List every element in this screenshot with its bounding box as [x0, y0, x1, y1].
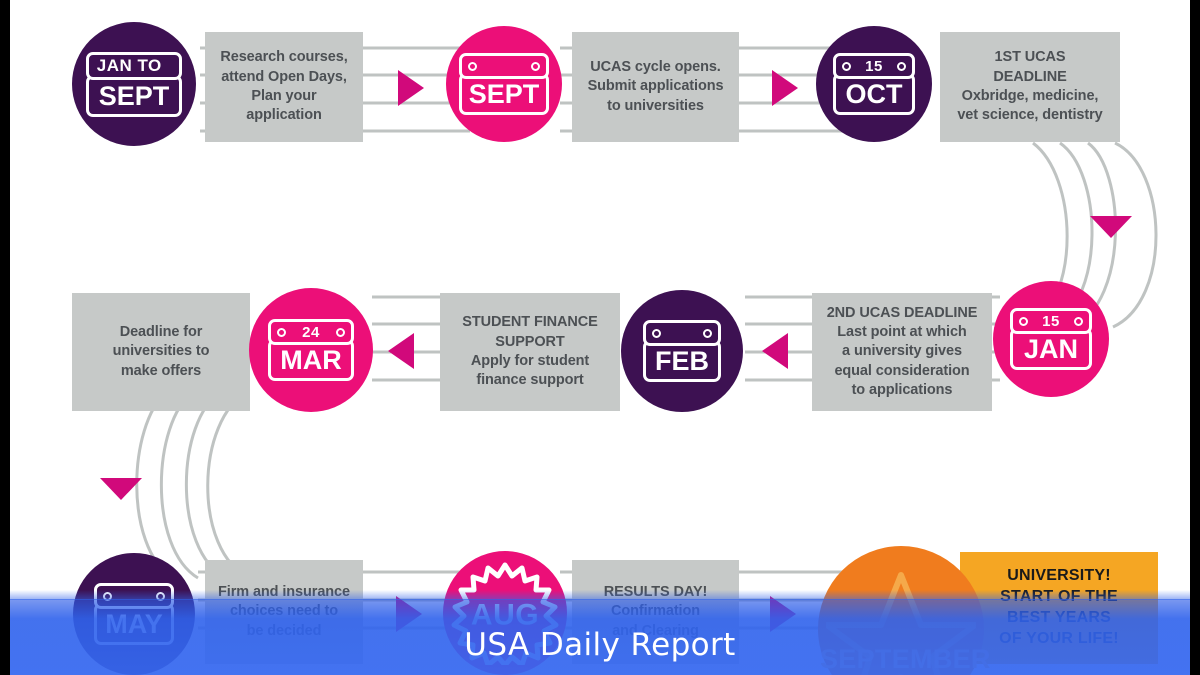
calendar-ring-icon: [897, 62, 906, 71]
calendar-ring-icon: [842, 62, 851, 71]
calendar-ring-icon: [1019, 317, 1028, 326]
box-line: finance support: [476, 371, 583, 390]
calendar-ring-icon: [531, 62, 540, 71]
box-line: DEADLINE: [993, 68, 1066, 87]
box-line: Oxbridge, medicine,: [962, 87, 1099, 106]
calendar-jan-icon: 15 JAN: [1010, 308, 1092, 370]
calendar-ring-icon: [468, 62, 477, 71]
step-box-research-courses: Research courses, attend Open Days, Plan…: [205, 32, 363, 142]
arrow-down-icon: [100, 478, 142, 500]
calendar-day-label: 15: [1042, 314, 1060, 329]
arrow-left-icon: [762, 333, 788, 369]
calendar-month-label: SEPT: [86, 75, 183, 117]
calendar-ring-icon: [277, 328, 286, 337]
step-box-1st-ucas-deadline: 1ST UCAS DEADLINE Oxbridge, medicine, ve…: [940, 32, 1120, 142]
box-line: STUDENT FINANCE: [462, 313, 597, 332]
node-jan-to-sept[interactable]: JAN TO SEPT: [72, 22, 196, 146]
calendar-oct-icon: 15 OCT: [833, 53, 915, 115]
box-line: UCAS cycle opens.: [590, 58, 720, 77]
step-box-2nd-ucas-deadline: 2ND UCAS DEADLINE Last point at which a …: [812, 293, 992, 411]
box-line: universities to: [113, 342, 210, 361]
calendar-ring-icon: [336, 328, 345, 337]
arrow-right-icon: [772, 70, 798, 106]
calendar-ring-icon: [703, 329, 712, 338]
calendar-day-label: 24: [302, 325, 320, 340]
box-line: attend Open Days,: [221, 68, 347, 87]
calendar-day-label: 15: [865, 59, 883, 74]
arrow-down-icon: [1090, 216, 1132, 238]
letterbox-left: [0, 0, 10, 675]
node-mar-24[interactable]: 24 MAR: [249, 288, 373, 412]
box-line: equal consideration: [834, 362, 969, 381]
calendar-sept-icon: SEPT: [459, 53, 550, 115]
calendar-ring-icon: [652, 329, 661, 338]
node-sept[interactable]: SEPT: [446, 26, 562, 142]
box-line: make offers: [121, 362, 201, 381]
box-line: to universities: [607, 97, 704, 116]
step-box-ucas-cycle-opens: UCAS cycle opens. Submit applications to…: [572, 32, 739, 142]
box-line: Research courses,: [220, 48, 347, 67]
calendar-ring-icon: [1074, 317, 1083, 326]
calendar-month-label: SEPT: [469, 81, 540, 108]
arrow-left-icon: [388, 333, 414, 369]
calendar-month-label: JAN: [1024, 336, 1078, 363]
box-line: Plan your application: [213, 87, 355, 126]
step-box-student-finance: STUDENT FINANCE SUPPORT Apply for studen…: [440, 293, 620, 411]
box-line: SUPPORT: [495, 333, 564, 352]
step-box-deadline-offers: Deadline for universities to make offers: [72, 293, 250, 411]
box-line: vet science, dentistry: [957, 106, 1102, 125]
box-line: Submit applications: [588, 77, 724, 96]
node-feb[interactable]: FEB: [621, 290, 743, 412]
node-jan-15[interactable]: 15 JAN: [993, 281, 1109, 397]
box-line: UNIVERSITY!: [1007, 566, 1111, 587]
calendar-jan-to-sept-icon: JAN TO SEPT: [86, 52, 183, 117]
infographic-canvas: JAN TO SEPT Research courses, attend Ope…: [0, 0, 1200, 675]
box-line: 1ST UCAS: [995, 48, 1066, 67]
box-line: Last point at which: [837, 323, 966, 342]
letterbox-right: [1190, 0, 1200, 675]
calendar-month-label: OCT: [846, 81, 903, 108]
calendar-month-label: FEB: [655, 348, 709, 375]
node-oct-15[interactable]: 15 OCT: [816, 26, 932, 142]
arrow-right-icon: [398, 70, 424, 106]
calendar-feb-icon: FEB: [643, 320, 721, 382]
box-line: a university gives: [842, 342, 962, 361]
watermark-label: USA Daily Report: [0, 627, 1200, 663]
box-line: Apply for student: [471, 352, 589, 371]
calendar-mar-icon: 24 MAR: [268, 319, 354, 381]
calendar-month-label: MAR: [280, 347, 342, 374]
calendar-top-label: JAN TO: [86, 52, 183, 80]
box-line: Deadline for: [120, 323, 203, 342]
box-line: to applications: [852, 381, 953, 400]
box-line: 2ND UCAS DEADLINE: [827, 304, 978, 323]
